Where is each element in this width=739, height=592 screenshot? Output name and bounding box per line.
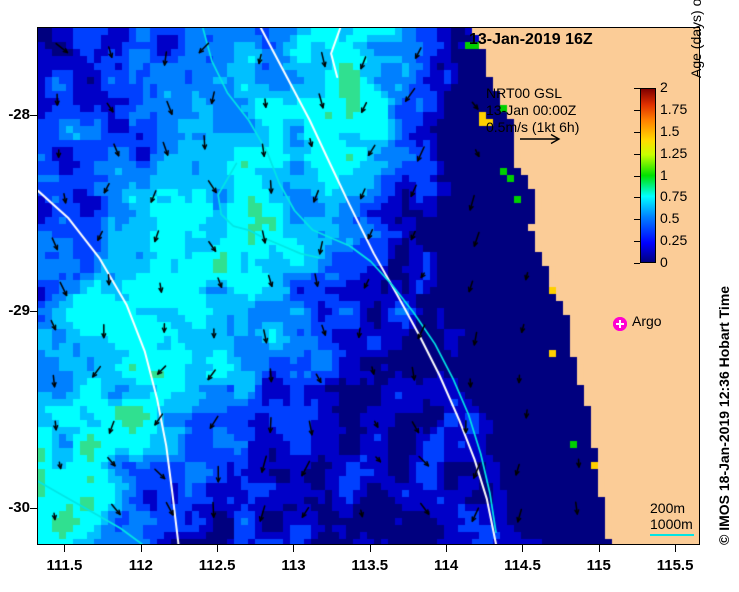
contours-and-current-vectors — [38, 28, 699, 544]
x-axis-tick-label: 112 — [106, 557, 176, 574]
colorbar-tick-label: 0.25 — [660, 232, 687, 248]
x-axis-tick-label: 114 — [411, 557, 481, 574]
bathy-200m-label: 200m — [650, 500, 693, 516]
colorbar-tick — [634, 154, 640, 155]
x-axis-tick — [217, 545, 218, 552]
x-axis-tick — [675, 545, 676, 552]
colorbar-tick-label: 1 — [660, 167, 668, 183]
x-axis-tick-label: 112.5 — [182, 557, 252, 574]
x-axis-tick — [522, 545, 523, 552]
y-axis-tick — [30, 508, 37, 509]
y-axis-tick — [30, 115, 37, 116]
colorbar-tick-label: 0.75 — [660, 188, 687, 204]
colorbar-tick-label: 2 — [660, 79, 668, 95]
bathy-1000m-swatch — [650, 534, 694, 536]
imos-credit-label: © IMOS 18-Jan-2019 12:36 Hobart Time — [716, 286, 732, 545]
colorbar-tick — [634, 197, 640, 198]
colorbar-tick-label: 0 — [660, 254, 668, 270]
y-axis-tick-label: -30 — [0, 499, 30, 516]
x-axis-tick — [141, 545, 142, 552]
sst-age-map-figure: 13-Jan-2019 16Z NRT00 GSL 13-Jan 00:00Z … — [0, 0, 739, 592]
colorbar-tick — [634, 132, 640, 133]
y-axis-tick-label: -28 — [0, 106, 30, 123]
x-axis-tick — [64, 545, 65, 552]
colorbar-tick — [634, 241, 640, 242]
x-axis-tick-label: 113 — [258, 557, 328, 574]
x-axis-tick-label: 111.5 — [29, 557, 99, 574]
colorbar-tick — [634, 176, 640, 177]
x-axis-tick — [446, 545, 447, 552]
map-plot-area[interactable] — [37, 27, 700, 545]
bathy-1000m-label: 1000m — [650, 516, 693, 532]
x-axis-tick-label: 115 — [564, 557, 634, 574]
y-axis-tick-label: -29 — [0, 302, 30, 319]
y-axis-tick — [30, 311, 37, 312]
current-source-label: NRT00 GSL — [486, 85, 579, 102]
colorbar-tick-label: 1.75 — [660, 101, 687, 117]
x-axis-tick-label: 114.5 — [487, 557, 557, 574]
colorbar-tick — [634, 219, 640, 220]
colorbar-axis-label: Age (days) of filled SST (wrt latest) — [688, 0, 704, 78]
colorbar-tick — [634, 110, 640, 111]
current-time-label: 13-Jan 00:00Z — [486, 102, 579, 119]
colorbar-gradient — [640, 88, 656, 263]
colorbar-tick — [634, 88, 640, 89]
argo-legend-marker-icon — [611, 315, 629, 333]
argo-legend-label: Argo — [632, 313, 662, 329]
map-title: 13-Jan-2019 16Z — [469, 31, 593, 49]
right-arrow-icon — [520, 133, 566, 145]
x-axis-tick — [370, 545, 371, 552]
colorbar-tick-label: 1.5 — [660, 123, 679, 139]
current-vector-annotation: NRT00 GSL 13-Jan 00:00Z 0.5m/s (1kt 6h) — [486, 85, 579, 136]
bathymetry-legend: 200m 1000m — [650, 500, 693, 532]
colorbar-tick — [634, 263, 640, 264]
colorbar-tick-label: 1.25 — [660, 145, 687, 161]
x-axis-tick-label: 115.5 — [640, 557, 710, 574]
x-axis-tick — [599, 545, 600, 552]
colorbar-tick-label: 0.5 — [660, 210, 679, 226]
x-axis-tick — [293, 545, 294, 552]
x-axis-tick-label: 113.5 — [335, 557, 405, 574]
